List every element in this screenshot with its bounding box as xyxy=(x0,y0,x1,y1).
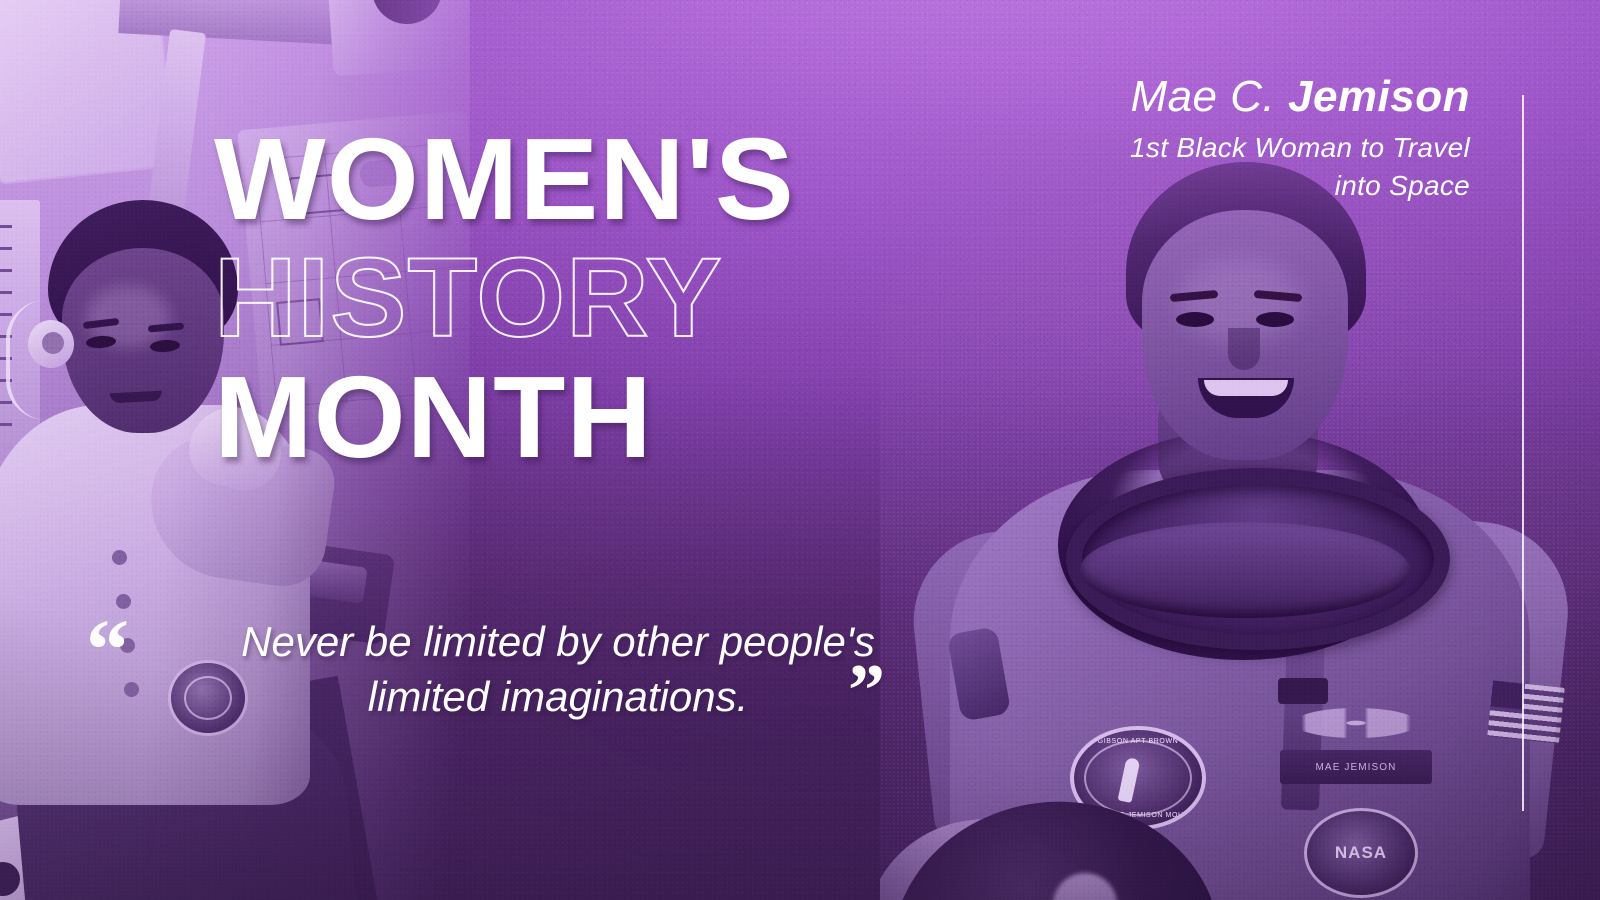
quote-line-2: limited imaginations. xyxy=(150,669,966,724)
quote-line-1: Never be limited by other people's xyxy=(150,614,966,669)
vertical-divider xyxy=(1522,95,1524,811)
title-line-month: MONTH xyxy=(214,364,867,472)
honoree-name: Mae C. Jemison xyxy=(950,74,1470,121)
honoree-last-name: Jemison xyxy=(1288,72,1470,121)
honoree-subtitle-line-1: 1st Black Woman to Travel xyxy=(950,129,1470,168)
page-title: WOMEN'S HISTORY MONTH xyxy=(214,126,854,472)
title-line-womens: WOMEN'S xyxy=(214,126,867,234)
quote-close-mark-icon: ” xyxy=(848,654,883,728)
honoree-first-name: Mae C. xyxy=(1130,72,1288,121)
quote-text: Never be limited by other people's limit… xyxy=(150,614,966,725)
poster-content: WOMEN'S HISTORY MONTH Mae C. Jemison 1st… xyxy=(0,0,1600,900)
honoree-name-block: Mae C. Jemison 1st Black Woman to Travel… xyxy=(950,74,1470,206)
quote-open-mark-icon: “ xyxy=(86,606,127,692)
womens-history-month-poster: GIBSON APT BROWN LEE DAVIS JEMISON MOHRI… xyxy=(0,0,1600,900)
honoree-subtitle: 1st Black Woman to Travel into Space xyxy=(950,129,1470,206)
title-line-history: HISTORY xyxy=(214,246,867,350)
honoree-subtitle-line-2: into Space xyxy=(950,167,1470,206)
quote-block: “ Never be limited by other people's lim… xyxy=(86,614,966,725)
